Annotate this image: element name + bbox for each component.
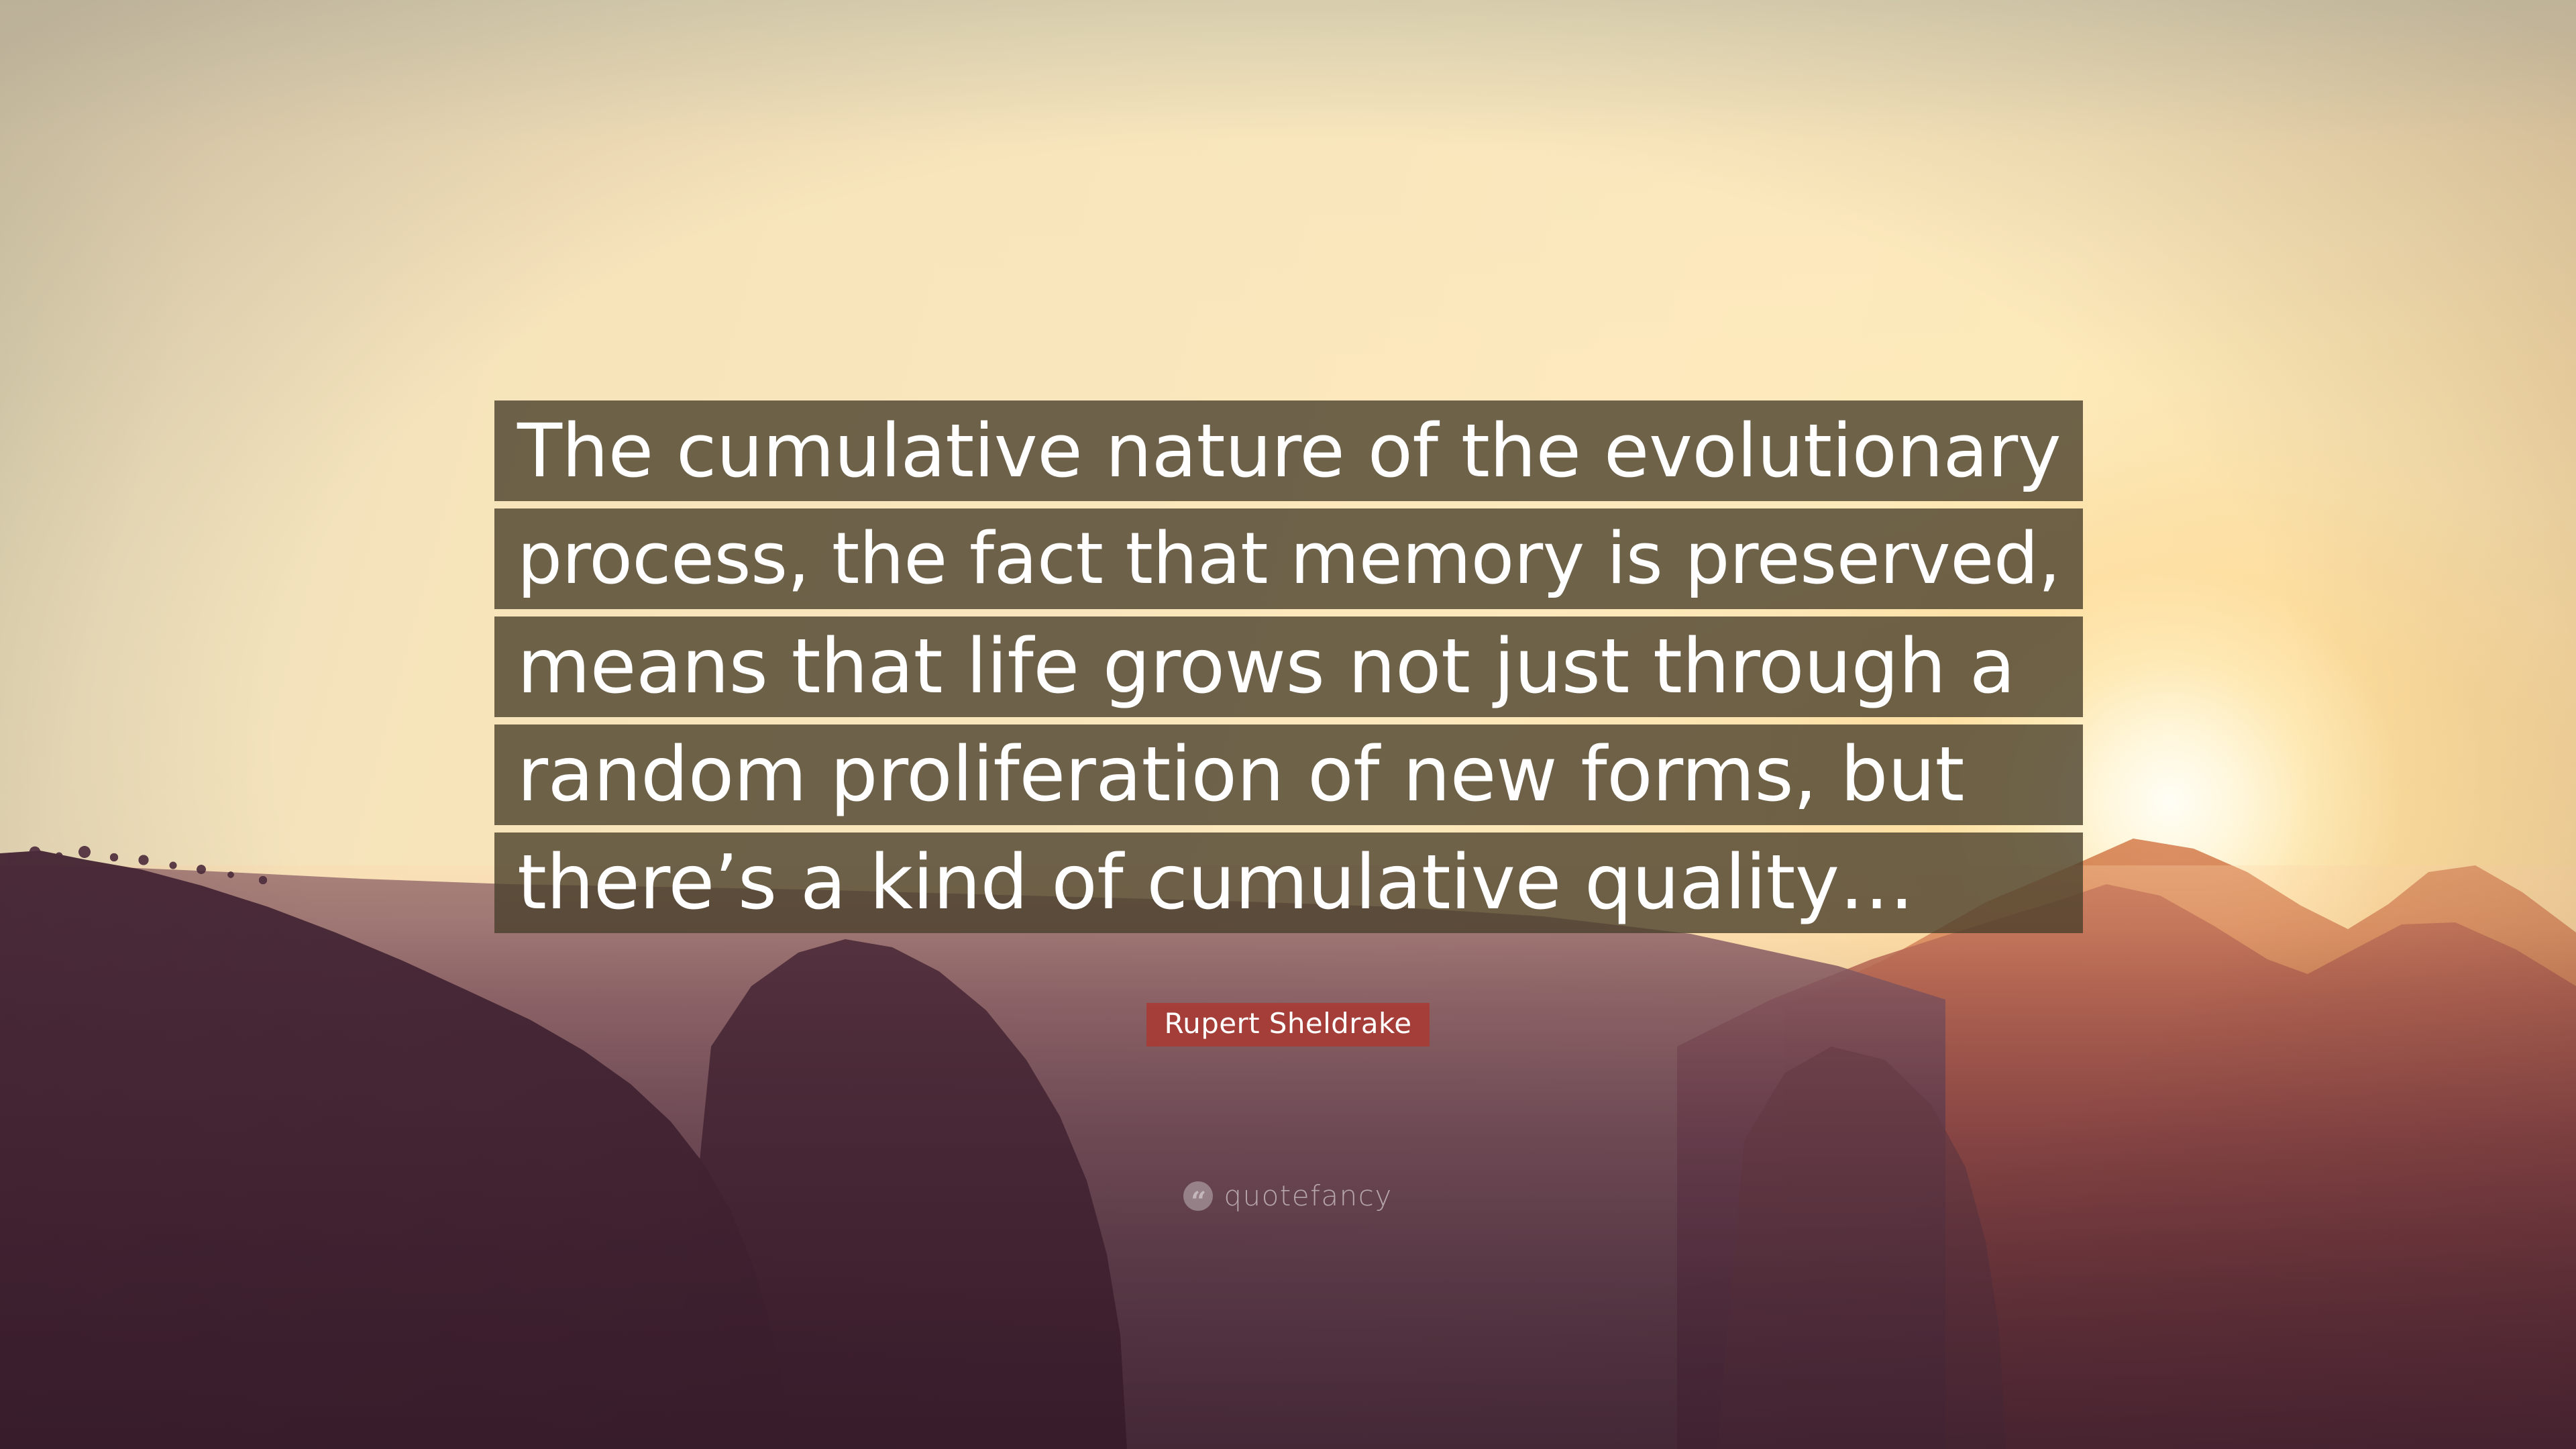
quote-line: The cumulative nature of the evolutionar… [494, 400, 2083, 501]
quote-line: process, the fact that memory is preserv… [494, 508, 2083, 609]
author-attribution: Rupert Sheldrake [0, 1003, 2576, 1046]
quote-line: there’s a kind of cumulative quality… [494, 833, 2083, 933]
quote-poster: The cumulative nature of the evolutionar… [0, 0, 2576, 1449]
quote-line: means that life grows not just through a [494, 616, 2083, 717]
brand-name: quotefancy [1224, 1179, 1392, 1212]
quotefancy-watermark: “ quotefancy [0, 1179, 2576, 1212]
author-name-badge: Rupert Sheldrake [1146, 1003, 1429, 1046]
quote-line: random proliferation of new forms, but [494, 724, 2083, 825]
quote-text-block: The cumulative nature of the evolutionar… [494, 400, 2083, 933]
quote-mark-icon: “ [1183, 1181, 1213, 1211]
